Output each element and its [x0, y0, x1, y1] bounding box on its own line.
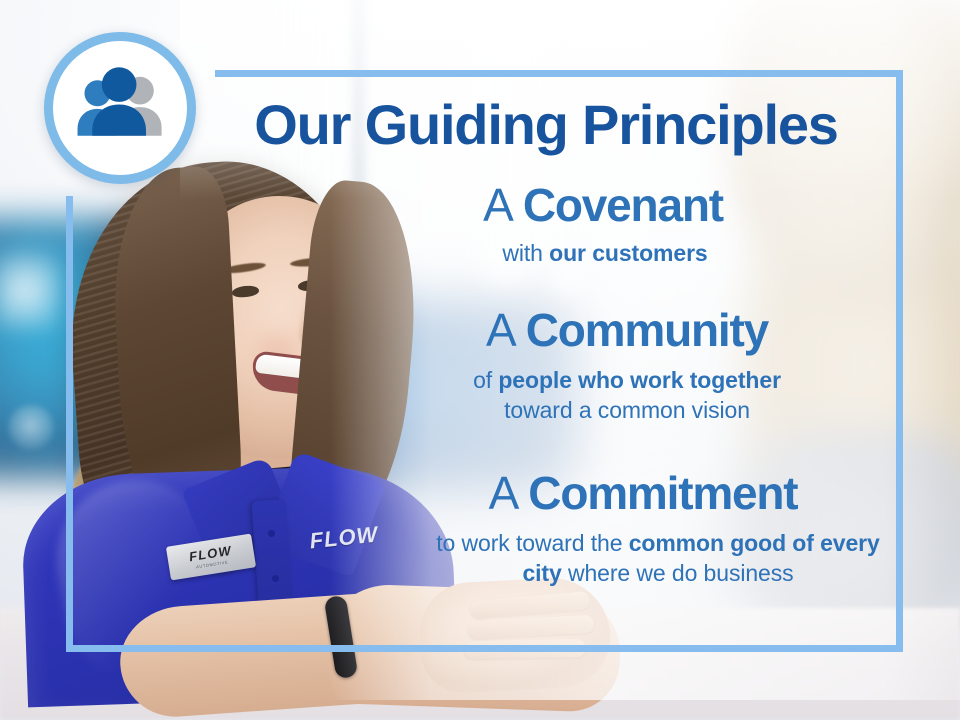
principle-commitment-subtext: to work toward the common good of every …	[416, 528, 900, 589]
shirt-button-bottom	[272, 575, 279, 582]
commitment-sub-part-0: to work toward the	[436, 530, 628, 556]
community-sub-part-1: people who work together	[498, 367, 781, 393]
principle-covenant-subtext: with our customers	[310, 238, 900, 268]
guiding-principles-badge	[44, 32, 196, 184]
principle-commitment-keyword: Commitment	[528, 467, 797, 519]
principle-covenant: A Covenant with our customers	[300, 178, 900, 269]
group-of-people-icon	[68, 56, 172, 160]
principle-community-keyword: Community	[526, 304, 768, 356]
principle-covenant-article: A	[483, 179, 523, 231]
community-sub-part-0: of	[473, 367, 498, 393]
principle-community-article: A	[486, 304, 526, 356]
brand-values-graphic: FLOW AUTOMOTIVE FLOW	[0, 0, 960, 720]
principle-commitment-article: A	[489, 467, 529, 519]
covenant-sub-part-1: our customers	[549, 240, 707, 266]
principle-commitment-heading: A Commitment	[386, 466, 900, 520]
principle-commitment: A Commitment to work toward the common g…	[300, 466, 900, 589]
principle-community: A Community of people who work togethert…	[300, 303, 900, 426]
page-title: Our Guiding Principles	[216, 96, 876, 154]
principles-list: A Covenant with our customers A Communit…	[300, 178, 900, 595]
principle-community-heading: A Community	[354, 303, 900, 357]
principle-community-subtext: of people who work togethertoward a comm…	[354, 365, 900, 426]
principle-covenant-keyword: Covenant	[523, 179, 723, 231]
covenant-sub-part-0: with	[502, 240, 549, 266]
commitment-sub-part-2: where we do business	[562, 560, 794, 586]
principle-covenant-heading: A Covenant	[306, 178, 900, 232]
finger-3	[464, 639, 586, 659]
community-sub-part-2: toward a common vision	[504, 397, 750, 423]
shirt-button-top	[268, 530, 275, 537]
